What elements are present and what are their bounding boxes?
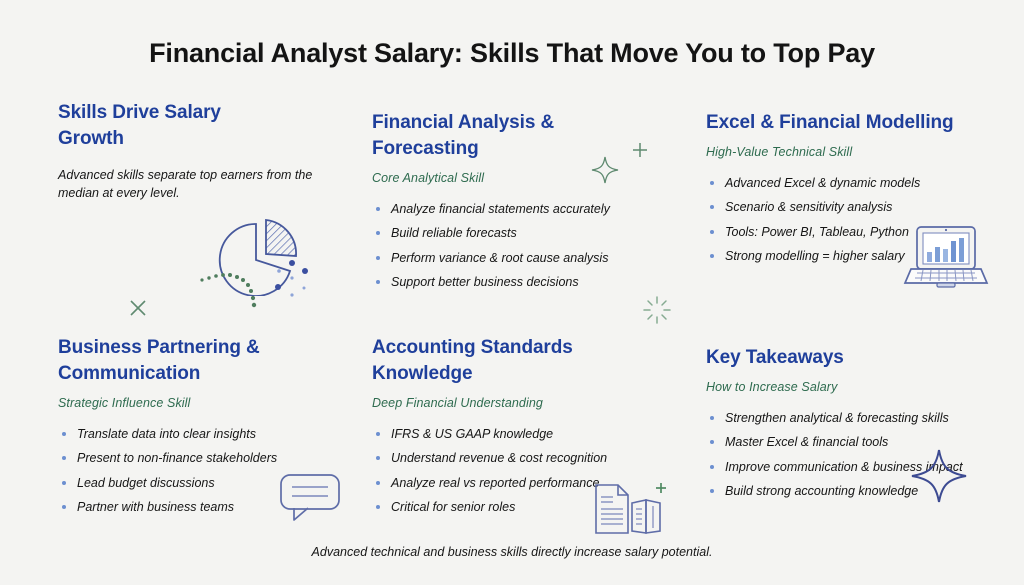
section-heading: Key Takeaways: [706, 345, 936, 371]
green-burst-sparkle: [642, 295, 672, 330]
section-heading: Accounting Standards Knowledge: [372, 335, 622, 387]
green-plus-mark: [631, 141, 649, 164]
infographic-canvas: Financial Analyst Salary: Skills That Mo…: [0, 0, 1024, 585]
list-item: Advanced Excel & dynamic models: [706, 177, 1006, 190]
sections-grid: Skills Drive Salary Growth Advanced skil…: [0, 100, 1024, 530]
section-bullet-list: Analyze financial statements accurately …: [372, 203, 672, 289]
list-item: Scenario & sensitivity analysis: [706, 201, 1006, 214]
list-item: Analyze financial statements accurately: [372, 203, 672, 216]
list-item: Build reliable forecasts: [372, 227, 672, 240]
section-heading: Excel & Financial Modelling: [706, 110, 956, 136]
list-item: Translate data into clear insights: [58, 428, 358, 441]
laptop-chart-icon: [903, 223, 991, 291]
section-lead-text: Advanced skills separate top earners fro…: [58, 166, 320, 204]
footer-caption: Advanced technical and business skills d…: [0, 545, 1024, 559]
list-item: Understand revenue & cost recognition: [372, 452, 672, 465]
section-subtitle: Core Analytical Skill: [372, 171, 672, 185]
list-item: Present to non-finance stakeholders: [58, 452, 358, 465]
section-heading: Business Partnering & Communication: [58, 335, 308, 387]
blue-dot-cluster: [272, 258, 312, 313]
section-skills-drive-salary-growth: Skills Drive Salary Growth Advanced skil…: [58, 100, 358, 203]
list-item: Perform variance & root cause analysis: [372, 252, 672, 265]
list-item: IFRS & US GAAP knowledge: [372, 428, 672, 441]
section-financial-analysis-forecasting: Financial Analysis & Forecasting Core An…: [372, 110, 672, 301]
section-subtitle: Deep Financial Understanding: [372, 396, 672, 410]
list-item: Strengthen analytical & forecasting skil…: [706, 412, 1006, 425]
section-heading: Skills Drive Salary Growth: [58, 100, 238, 152]
page-title: Financial Analyst Salary: Skills That Mo…: [0, 38, 1024, 69]
section-subtitle: How to Increase Salary: [706, 380, 1006, 394]
section-heading: Financial Analysis & Forecasting: [372, 110, 622, 162]
four-point-star-icon: [908, 447, 970, 505]
green-dotted-curve: [200, 268, 270, 323]
list-item: Support better business decisions: [372, 276, 672, 289]
section-subtitle: High-Value Technical Skill: [706, 145, 1006, 159]
document-book-icon: [592, 481, 672, 537]
section-subtitle: Strategic Influence Skill: [58, 396, 358, 410]
green-diamond-star: [590, 155, 620, 190]
speech-bubble-icon: [278, 472, 346, 522]
green-x-mark: [128, 298, 148, 323]
